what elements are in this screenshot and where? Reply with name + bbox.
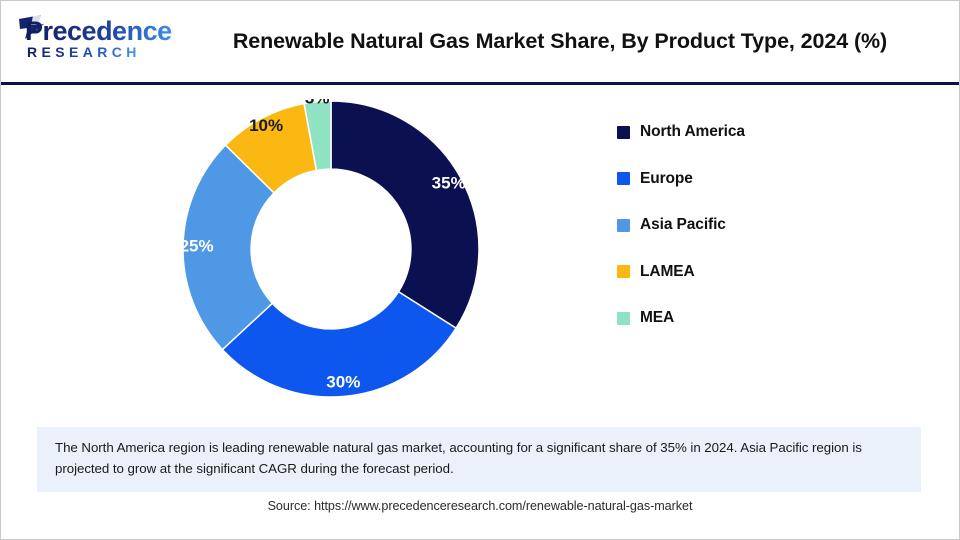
slice-data-label: 10% [249,116,283,135]
chart-infographic: Precedence RESEARCH Renewable Natural Ga… [0,0,960,540]
slice-data-label: 25% [181,236,214,255]
chart-legend: North AmericaEuropeAsia PacificLAMEAMEA [617,123,745,327]
legend-item[interactable]: LAMEA [617,263,745,281]
donut-chart: 35%30%25%10%3% [181,99,481,399]
logo-svg: Precedence RESEARCH [11,9,191,67]
svg-text:Precedence: Precedence [25,16,172,46]
source-line: Source: https://www.precedenceresearch.c… [1,499,959,513]
footer: The North America region is leading rene… [1,429,959,537]
chart-body: 35%30%25%10%3% North AmericaEuropeAsia P… [1,85,959,429]
legend-item[interactable]: Asia Pacific [617,216,745,234]
legend-item[interactable]: North America [617,123,745,141]
legend-swatch-icon [617,126,630,139]
legend-item-label: Europe [640,170,693,188]
donut-slice[interactable] [331,101,479,328]
slice-data-label: 3% [305,99,330,107]
donut-chart-svg[interactable]: 35%30%25%10%3% [181,99,481,399]
svg-text:RESEARCH: RESEARCH [27,44,141,60]
legend-item[interactable]: Europe [617,170,745,188]
insight-text: The North America region is leading rene… [55,438,905,479]
slice-data-label: 35% [432,174,466,193]
legend-item-label: North America [640,123,745,141]
header: Precedence RESEARCH Renewable Natural Ga… [1,1,959,85]
legend-swatch-icon [617,312,630,325]
legend-item-label: LAMEA [640,263,695,281]
legend-item-label: Asia Pacific [640,216,726,234]
slice-data-label: 30% [326,372,360,391]
legend-swatch-icon [617,219,630,232]
legend-swatch-icon [617,265,630,278]
insight-callout: The North America region is leading rene… [37,427,921,492]
legend-item[interactable]: MEA [617,309,745,327]
precedence-research-logo[interactable]: Precedence RESEARCH [11,9,191,67]
legend-swatch-icon [617,172,630,185]
legend-item-label: MEA [640,309,674,327]
